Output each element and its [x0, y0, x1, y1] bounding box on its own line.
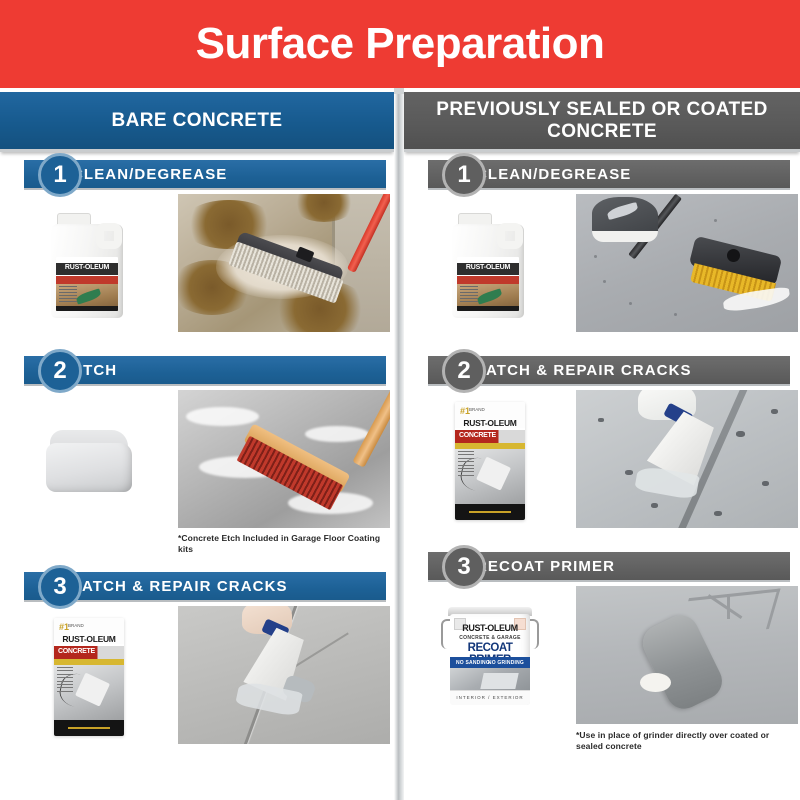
step-left-3: 3 PATCH & REPAIR CRACKS #1 BRAND RUST-OL…	[0, 572, 394, 752]
step-left-2: 2 ETCH	[0, 356, 394, 558]
box-red-band: CONCRETE	[455, 430, 525, 443]
box-footer-band	[54, 720, 124, 736]
step-right-3: 3 RECOAT PRIMER RUST-OLEUM CONCRETE & GA…	[404, 552, 798, 754]
step-label: CLEAN/DEGREASE	[476, 166, 631, 183]
page-title: Surface Preparation	[196, 22, 605, 66]
divider-cap	[394, 88, 404, 94]
step-number: 2	[457, 359, 470, 383]
product-rustoleum-jug: RUST-OLEUM	[49, 213, 129, 318]
can-footer-band: INTERIOR / EXTERIOR	[450, 690, 530, 705]
step-body-right-3: RUST-OLEUM CONCRETE & GARAGE RECOAT PRIM…	[404, 582, 798, 754]
product-slot	[0, 386, 178, 536]
step-bar-left-1: 1 CLEAN/DEGREASE	[24, 160, 386, 190]
step-badge-right-3: 3	[442, 545, 486, 589]
step-footnote-etch: *Concrete Etch Included in Garage Floor …	[178, 533, 390, 556]
scene	[178, 606, 390, 744]
step-right-2: 2 PATCH & REPAIR CRACKS #1 BRAND RUST-OL…	[404, 356, 798, 536]
floor-speck	[594, 255, 597, 258]
step-bar-left-2: 2 ETCH	[24, 356, 386, 386]
step-left-1: 1 CLEAN/DEGREASE RUST-OLEUM	[0, 160, 394, 340]
step-badge-left-3: 3	[38, 565, 82, 609]
product-brand: RUST-OLEUM	[457, 264, 519, 271]
step-bar-right-1: 1 CLEAN/DEGREASE	[428, 160, 790, 190]
roller-frame-end	[727, 594, 730, 619]
floor-speck	[674, 313, 677, 316]
can-claim-left: NO SANDING	[456, 660, 490, 666]
aggregate-fleck	[651, 503, 658, 508]
step-bar-right-2: 2 PATCH & REPAIR CRACKS	[428, 356, 790, 386]
product-recoat-primer-can: RUST-OLEUM CONCRETE & GARAGE RECOAT PRIM…	[445, 607, 535, 707]
step-bar-right-3: 3 RECOAT PRIMER	[428, 552, 790, 582]
step-number: 3	[457, 555, 470, 579]
can-footer-text: INTERIOR / EXTERIOR	[450, 695, 530, 700]
box-band-text: CONCRETE	[459, 432, 496, 439]
aggregate-fleck	[714, 511, 722, 516]
shoe-sole	[592, 231, 659, 242]
step-body-left-1: RUST-OLEUM	[0, 190, 394, 340]
photo-with-footnote: *Use in place of grinder directly over c…	[576, 582, 798, 753]
scene	[576, 390, 798, 528]
product-concrete-patch-box: #1 BRAND RUST-OLEUM CONCRETE	[455, 402, 525, 520]
step-number: 1	[53, 163, 66, 187]
step-label: PATCH & REPAIR CRACKS	[476, 362, 692, 379]
etch-foam	[186, 407, 258, 426]
label-fineprint	[460, 286, 478, 306]
etch-foam	[305, 426, 369, 443]
step-photo-etch	[178, 390, 390, 528]
bag-body	[46, 443, 132, 492]
can-subtitle: CONCRETE & GARAGE	[450, 635, 530, 641]
scene	[178, 390, 390, 528]
title-banner: Surface Preparation	[0, 0, 800, 88]
column-divider	[394, 88, 404, 800]
step-badge-right-1: 1	[442, 153, 486, 197]
aggregate-fleck	[736, 431, 745, 437]
photo-slot	[576, 390, 798, 528]
scene	[576, 586, 798, 724]
photo-slot	[576, 586, 798, 724]
step-bar-left-3: 3 PATCH & REPAIR CRACKS	[24, 572, 386, 602]
step-photo-clean-degrease-sealed	[576, 194, 798, 332]
scene	[178, 194, 390, 332]
product-slot: #1 BRAND RUST-OLEUM CONCRETE	[404, 386, 576, 536]
step-photo-recoat-primer	[576, 586, 798, 724]
column-previously-sealed: 1 CLEAN/DEGREASE RUST-OLEUM	[404, 160, 798, 760]
step-number: 3	[53, 575, 66, 599]
aggregate-fleck	[598, 418, 604, 422]
step-label: RECOAT PRIMER	[476, 558, 615, 575]
photo-slot	[178, 194, 390, 332]
label-red-band	[457, 276, 519, 284]
photo-slot	[576, 194, 798, 332]
label-fineprint	[59, 286, 77, 306]
can-claim-right: NO GRINDING	[488, 660, 524, 666]
jug-label: RUST-OLEUM	[457, 257, 519, 311]
step-label: PATCH & REPAIR CRACKS	[72, 578, 288, 595]
box-no1-sub: BRAND	[68, 623, 84, 629]
floor-speck	[629, 302, 632, 305]
step-body-right-2: #1 BRAND RUST-OLEUM CONCRETE	[404, 386, 798, 536]
scene	[576, 194, 798, 332]
step-right-1: 1 CLEAN/DEGREASE RUST-OLEUM	[404, 160, 798, 340]
product-rustoleum-jug: RUST-OLEUM	[450, 213, 530, 318]
box-red-band: CONCRETE	[54, 646, 124, 659]
step-body-right-1: RUST-OLEUM	[404, 190, 798, 340]
jug-label: RUST-OLEUM	[56, 257, 118, 311]
step-body-left-2: *Concrete Etch Included in Garage Floor …	[0, 386, 394, 558]
column-bare-concrete: 1 CLEAN/DEGREASE RUST-OLEUM	[0, 160, 394, 758]
step-photo-patch-repair-sealed	[576, 390, 798, 528]
step-body-left-3: #1 BRAND RUST-OLEUM CONCRETE	[0, 602, 394, 752]
step-number: 2	[53, 359, 66, 383]
floor-speck	[603, 280, 606, 283]
box-band-text: CONCRETE	[58, 648, 95, 655]
box-fineprint	[57, 667, 73, 694]
column-header-bare-concrete: BARE CONCRETE	[0, 92, 394, 152]
can-claims-band: NO SANDING NO GRINDING	[450, 657, 530, 668]
product-concrete-etch-bag	[46, 430, 132, 492]
product-brand: RUST-OLEUM	[455, 418, 525, 428]
step-photo-patch-repair-bare	[178, 606, 390, 744]
column-header-previously-sealed: PREVIOUSLY SEALED OR COATED CONCRETE	[404, 92, 800, 152]
box-footer-band	[455, 504, 525, 520]
label-base-band	[56, 306, 118, 311]
label-base-band	[457, 306, 519, 311]
column-header-label-right: PREVIOUSLY SEALED OR COATED CONCRETE	[404, 99, 800, 142]
floor-speck	[714, 219, 717, 222]
step-badge-left-1: 1	[38, 153, 82, 197]
step-photo-clean-degrease-bare	[178, 194, 390, 332]
product-slot: #1 BRAND RUST-OLEUM CONCRETE	[0, 602, 178, 752]
step-number: 1	[457, 163, 470, 187]
label-red-band	[56, 276, 118, 284]
product-brand: RUST-OLEUM	[450, 623, 530, 633]
jug-handle	[497, 223, 523, 249]
product-brand: RUST-OLEUM	[56, 264, 118, 271]
can-body: RUST-OLEUM CONCRETE & GARAGE RECOAT PRIM…	[450, 614, 530, 705]
infographic-page: Surface Preparation BARE CONCRETE PREVIO…	[0, 0, 800, 800]
product-slot: RUST-OLEUM CONCRETE & GARAGE RECOAT PRIM…	[404, 582, 576, 732]
step-label: CLEAN/DEGREASE	[72, 166, 227, 183]
aggregate-fleck	[771, 409, 778, 414]
product-slot: RUST-OLEUM	[404, 190, 576, 340]
step-badge-left-2: 2	[38, 349, 82, 393]
aggregate-fleck	[625, 470, 633, 475]
box-fineprint	[458, 451, 474, 478]
product-slot: RUST-OLEUM	[0, 190, 178, 340]
photo-with-footnote: *Concrete Etch Included in Garage Floor …	[178, 386, 390, 556]
aggregate-fleck	[762, 481, 769, 486]
product-brand: RUST-OLEUM	[54, 634, 124, 644]
photo-slot	[178, 390, 390, 528]
box-no1-sub: BRAND	[469, 407, 485, 413]
column-header-label-left: BARE CONCRETE	[112, 110, 283, 131]
step-footnote-recoat: *Use in place of grinder directly over c…	[576, 730, 776, 753]
product-concrete-patch-box: #1 BRAND RUST-OLEUM CONCRETE	[54, 618, 124, 736]
jug-handle	[96, 223, 122, 249]
photo-slot	[178, 606, 390, 744]
step-badge-right-2: 2	[442, 349, 486, 393]
